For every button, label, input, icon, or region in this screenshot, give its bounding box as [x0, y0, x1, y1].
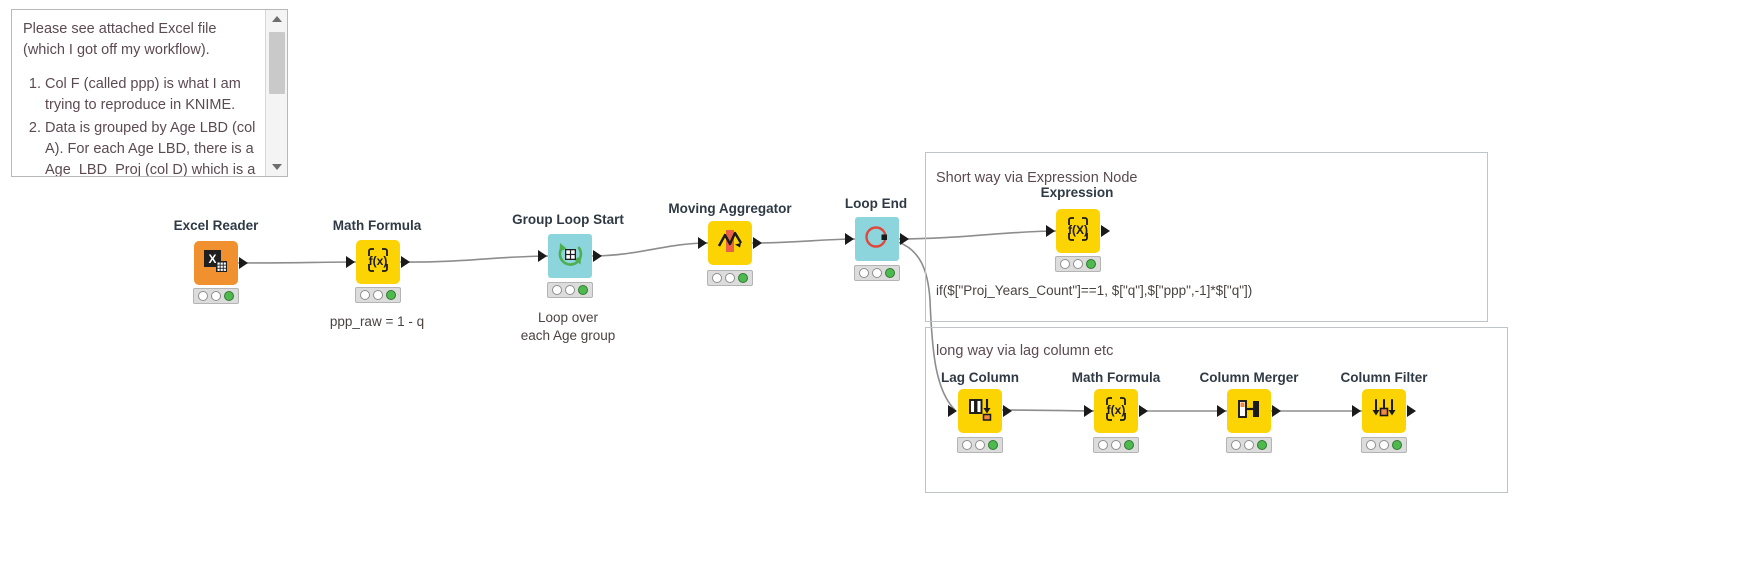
note-list: Col F (called ppp) is what I am trying t… — [23, 74, 257, 176]
output-port[interactable] — [753, 237, 762, 249]
node-label-math-formula-2: Math Formula — [1072, 370, 1161, 385]
lag-column-icon — [966, 395, 994, 428]
node-column-merger[interactable] — [1227, 389, 1271, 433]
status-column-merger — [1226, 437, 1272, 453]
input-port[interactable] — [845, 233, 854, 245]
note-list-item: Data is grouped by Age LBD (col A). For … — [45, 118, 257, 176]
input-port[interactable] — [538, 250, 547, 262]
note-scrollbar[interactable] — [265, 10, 287, 176]
svg-text:f(X): f(X) — [1068, 223, 1088, 237]
group-title-long-way: long way via lag column etc — [936, 343, 1113, 359]
input-port[interactable] — [346, 256, 355, 268]
status-lamp-idle — [712, 273, 722, 283]
output-port[interactable] — [1272, 405, 1281, 417]
excel-spreadsheet-icon: X — [203, 248, 229, 279]
scrollbar-thumb[interactable] — [269, 32, 285, 94]
expression-formula-text: if($["Proj_Years_Count"]==1, $["q"],$["p… — [936, 283, 1252, 298]
annotation-note-content: Please see attached Excel file (which I … — [12, 10, 265, 176]
node-math-formula-2[interactable]: f(x) — [1094, 389, 1138, 433]
status-lamp-executed — [738, 273, 748, 283]
status-lamp-queued — [565, 285, 575, 295]
node-group-loop-start[interactable] — [548, 234, 592, 278]
status-moving-aggregator — [707, 270, 753, 286]
status-lamp-idle — [198, 291, 208, 301]
status-lamp-idle — [360, 290, 370, 300]
node-description-math-formula-1: ppp_raw = 1 - q — [330, 313, 424, 331]
status-lamp-executed — [1086, 259, 1096, 269]
status-lamp-queued — [872, 268, 882, 278]
status-lamp-executed — [885, 268, 895, 278]
node-label-excel-reader: Excel Reader — [174, 218, 259, 233]
input-port[interactable] — [1217, 405, 1226, 417]
scroll-down-icon[interactable] — [266, 158, 288, 176]
status-lamp-executed — [578, 285, 588, 295]
input-port[interactable] — [948, 405, 957, 417]
output-port[interactable] — [1407, 405, 1416, 417]
output-port[interactable] — [1101, 225, 1110, 237]
status-lag-column — [957, 437, 1003, 453]
svg-text:X: X — [208, 252, 216, 266]
input-port[interactable] — [1046, 225, 1055, 237]
group-title-short-way: Short way via Expression Node — [936, 170, 1138, 186]
status-lamp-idle — [1098, 440, 1108, 450]
status-lamp-executed — [1257, 440, 1267, 450]
output-port[interactable] — [593, 250, 602, 262]
input-port[interactable] — [1084, 405, 1093, 417]
status-lamp-idle — [1060, 259, 1070, 269]
column-filter-icon — [1370, 395, 1398, 428]
fx-function-icon: f(x) — [364, 246, 392, 279]
status-lamp-queued — [1111, 440, 1121, 450]
status-lamp-queued — [1244, 440, 1254, 450]
node-column-filter[interactable] — [1362, 389, 1406, 433]
moving-aggregator-icon — [716, 227, 744, 260]
output-port[interactable] — [239, 257, 248, 269]
status-lamp-queued — [975, 440, 985, 450]
status-math-formula-2 — [1093, 437, 1139, 453]
fx-function-icon: f(x) — [1102, 395, 1130, 428]
edge-excel-to-math — [238, 262, 358, 263]
status-lamp-idle — [962, 440, 972, 450]
fx-capital-icon: f(X) — [1064, 215, 1092, 248]
status-lamp-executed — [224, 291, 234, 301]
loop-start-icon — [555, 239, 585, 274]
status-lamp-queued — [211, 291, 221, 301]
svg-text:f(x): f(x) — [1107, 403, 1126, 417]
status-lamp-queued — [1379, 440, 1389, 450]
status-lamp-executed — [1392, 440, 1402, 450]
node-label-loop-end: Loop End — [845, 196, 907, 211]
input-port[interactable] — [1352, 405, 1361, 417]
output-port[interactable] — [1139, 405, 1148, 417]
input-port[interactable] — [698, 237, 707, 249]
column-merger-icon — [1235, 395, 1263, 428]
output-port[interactable] — [900, 233, 909, 245]
node-label-expression: Expression — [1041, 185, 1114, 200]
status-expression — [1055, 256, 1101, 272]
status-lamp-executed — [1124, 440, 1134, 450]
workflow-canvas[interactable]: Please see attached Excel file (which I … — [0, 0, 1755, 584]
status-lamp-queued — [725, 273, 735, 283]
status-lamp-executed — [386, 290, 396, 300]
node-label-moving-aggregator: Moving Aggregator — [668, 201, 791, 216]
status-math-formula-1 — [355, 287, 401, 303]
status-lamp-queued — [373, 290, 383, 300]
scroll-up-icon[interactable] — [266, 10, 288, 28]
status-lamp-executed — [988, 440, 998, 450]
status-loop-end — [854, 265, 900, 281]
node-label-lag-column: Lag Column — [941, 370, 1019, 385]
node-description-group-loop-start: Loop over each Age group — [521, 309, 616, 345]
output-port[interactable] — [401, 256, 410, 268]
output-port[interactable] — [1003, 405, 1012, 417]
status-lamp-idle — [859, 268, 869, 278]
annotation-note[interactable]: Please see attached Excel file (which I … — [11, 9, 288, 177]
node-label-column-merger: Column Merger — [1199, 370, 1298, 385]
node-label-group-loop-start: Group Loop Start — [512, 212, 624, 227]
node-label-math-formula-1: Math Formula — [333, 218, 422, 233]
status-lamp-idle — [1231, 440, 1241, 450]
status-column-filter — [1361, 437, 1407, 453]
edge-math-to-grouploop — [400, 256, 550, 262]
status-excel-reader — [193, 288, 239, 304]
edge-movagg-to-loopend — [752, 239, 857, 243]
note-paragraph: Please see attached Excel file (which I … — [23, 19, 257, 61]
status-lamp-idle — [1366, 440, 1376, 450]
node-lag-column[interactable] — [958, 389, 1002, 433]
node-excel-reader[interactable]: X — [194, 241, 238, 285]
node-expression[interactable]: f(X) — [1056, 209, 1100, 253]
node-moving-aggregator[interactable] — [708, 221, 752, 265]
status-lamp-queued — [1073, 259, 1083, 269]
svg-text:f(x): f(x) — [369, 254, 388, 268]
status-group-loop-start — [547, 282, 593, 298]
node-label-column-filter: Column Filter — [1341, 370, 1428, 385]
node-math-formula-1[interactable]: f(x) — [356, 240, 400, 284]
node-loop-end[interactable] — [855, 217, 899, 261]
edge-grouploop-to-movagg — [591, 243, 708, 256]
status-lamp-idle — [552, 285, 562, 295]
note-list-item: Col F (called ppp) is what I am trying t… — [45, 74, 257, 116]
loop-end-icon — [863, 223, 891, 256]
